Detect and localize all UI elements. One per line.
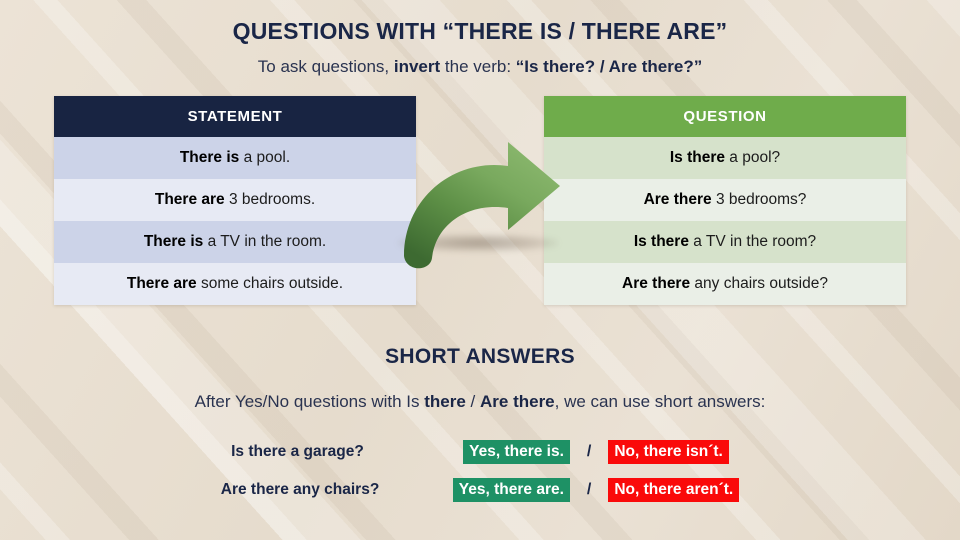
page-subtitle: To ask questions, invert the verb: “Is t… (0, 57, 960, 77)
row-rest-text: any chairs outside? (690, 275, 828, 292)
intro-text-2: / (466, 392, 480, 411)
row-rest-text: a TV in the room. (203, 233, 326, 250)
intro-bold-2: Are there (480, 392, 555, 411)
intro-text-3: , we can use short answers: (555, 392, 766, 411)
table-row: There is a pool. (54, 137, 416, 179)
intro-bold-1: there (424, 392, 466, 411)
answer-separator: / (570, 443, 608, 461)
row-bold-text: There are (127, 275, 197, 292)
table-row: Is there a TV in the room? (544, 221, 906, 263)
row-rest-text: a TV in the room? (689, 233, 816, 250)
curved-right-arrow-icon (392, 138, 572, 283)
row-bold-text: There is (180, 149, 239, 166)
short-answer-question: Is there a garage? (231, 443, 463, 461)
short-answer-row: Is there a garage? Yes, there is. / No, … (0, 440, 960, 464)
short-answers-intro: After Yes/No questions with Is there / A… (0, 392, 960, 412)
table-row: There are some chairs outside. (54, 263, 416, 305)
question-table-header: QUESTION (544, 96, 906, 137)
subtitle-bold-2: “Is there? / Are there?” (516, 57, 702, 76)
row-bold-text: There are (155, 191, 225, 208)
row-rest-text: a pool. (239, 149, 290, 166)
intro-text-1: After Yes/No questions with Is (195, 392, 425, 411)
short-answer-question: Are there any chairs? (221, 481, 453, 499)
subtitle-bold-1: invert (394, 57, 440, 76)
subtitle-text-1: To ask questions, (258, 57, 394, 76)
table-row: There is a TV in the room. (54, 221, 416, 263)
question-table: QUESTION Is there a pool? Are there 3 be… (544, 96, 906, 305)
transform-arrow (392, 138, 572, 283)
table-row: There are 3 bedrooms. (54, 179, 416, 221)
answer-separator: / (570, 481, 608, 499)
row-bold-text: Are there (622, 275, 690, 292)
row-rest-text: a pool? (725, 149, 780, 166)
negative-answer-badge: No, there isn´t. (608, 440, 729, 464)
table-row: Are there 3 bedrooms? (544, 179, 906, 221)
row-bold-text: Are there (644, 191, 712, 208)
slide-canvas: QUESTIONS WITH “THERE IS / THERE ARE” To… (0, 0, 960, 540)
row-bold-text: There is (144, 233, 203, 250)
row-rest-text: some chairs outside. (197, 275, 343, 292)
table-row: Is there a pool? (544, 137, 906, 179)
statement-table-header: STATEMENT (54, 96, 416, 137)
negative-answer-badge: No, there aren´t. (608, 478, 739, 502)
affirmative-answer-badge: Yes, there is. (463, 440, 570, 464)
affirmative-answer-badge: Yes, there are. (453, 478, 570, 502)
statement-table: STATEMENT There is a pool. There are 3 b… (54, 96, 416, 305)
row-rest-text: 3 bedrooms. (225, 191, 315, 208)
short-answer-row: Are there any chairs? Yes, there are. / … (0, 478, 960, 502)
page-title: QUESTIONS WITH “THERE IS / THERE ARE” (0, 18, 960, 45)
table-row: Are there any chairs outside? (544, 263, 906, 305)
row-rest-text: 3 bedrooms? (712, 191, 807, 208)
short-answers-title: SHORT ANSWERS (0, 345, 960, 369)
row-bold-text: Is there (634, 233, 689, 250)
row-bold-text: Is there (670, 149, 725, 166)
subtitle-text-2: the verb: (440, 57, 516, 76)
